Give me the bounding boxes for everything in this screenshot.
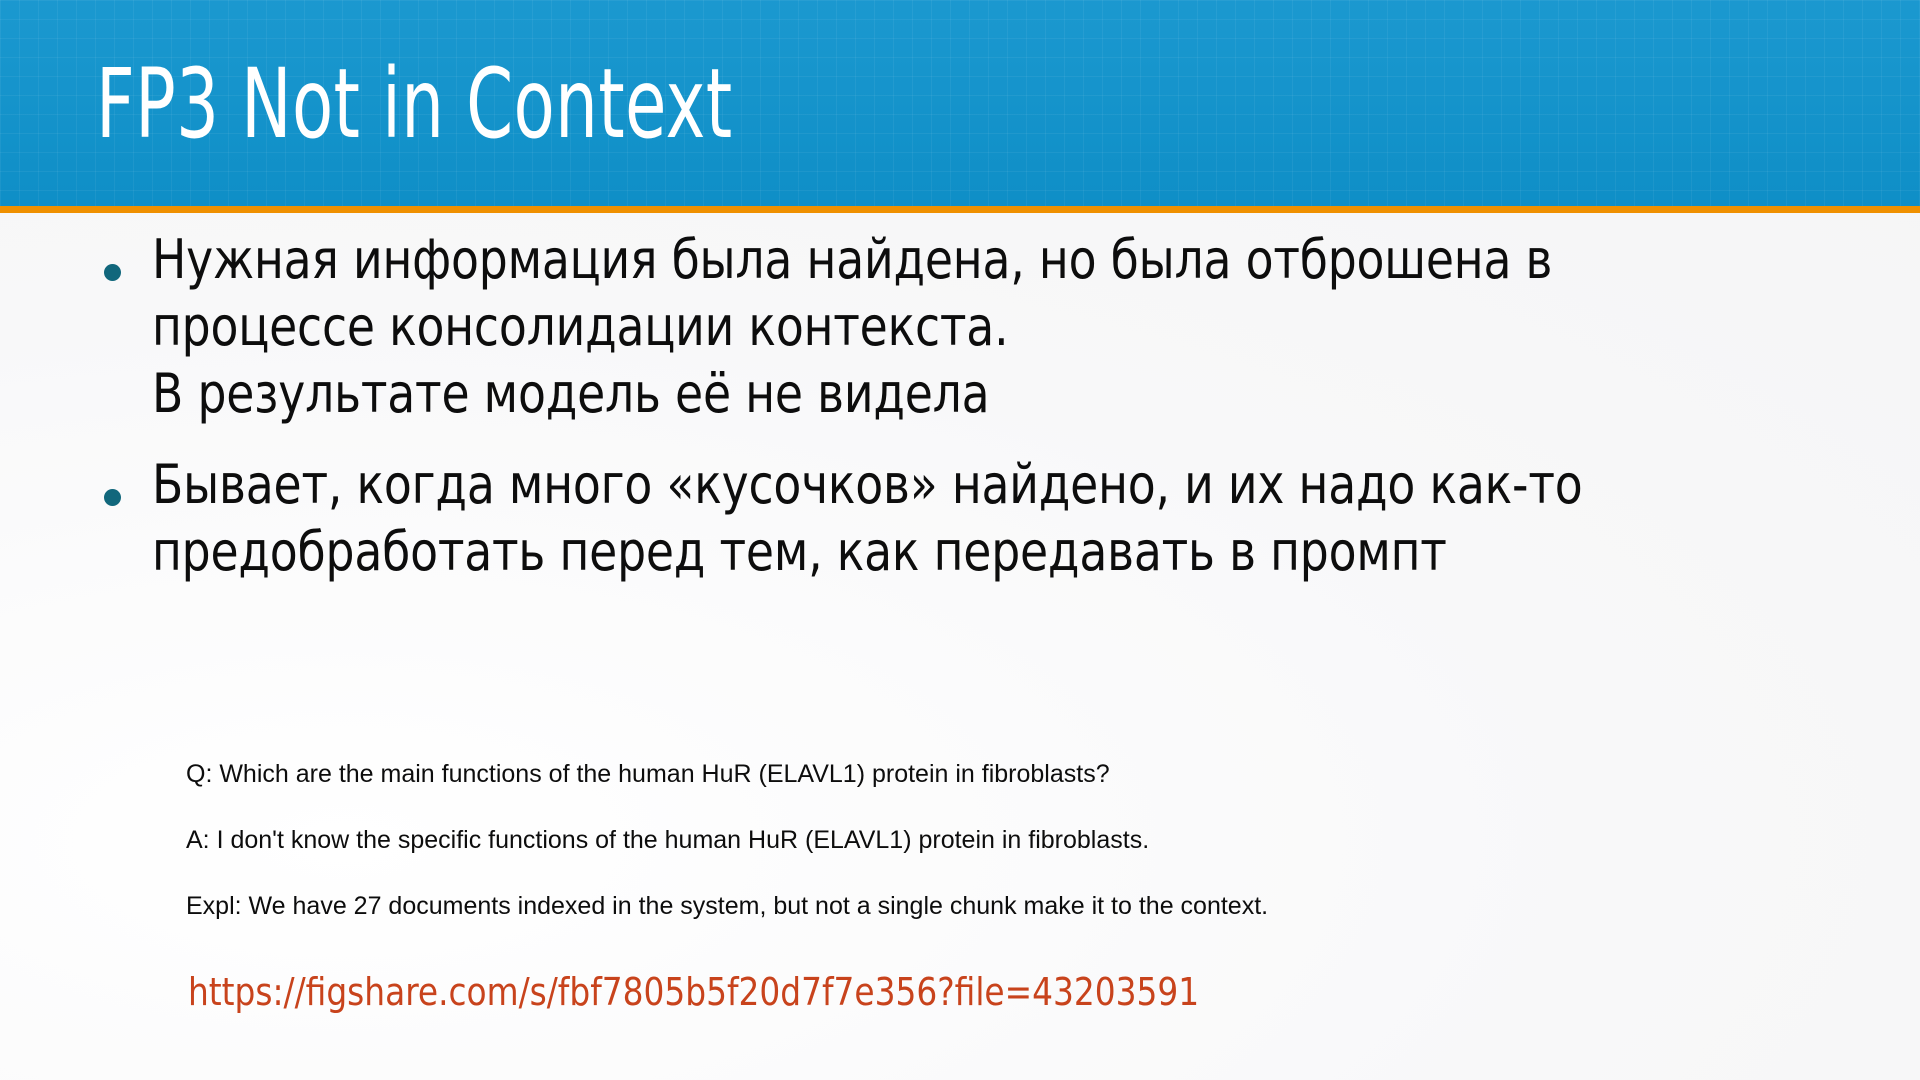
list-item: Бывает, когда много «кусочков» найдено, …: [96, 451, 1886, 585]
source-link[interactable]: https://figshare.com/s/fbf7805b5f20d7f7e…: [188, 969, 1199, 1015]
slide-body: Нужная информация была найдена, но была …: [0, 206, 1920, 1080]
slide-canvas: FP3 Not in Context Нужная информация был…: [0, 0, 1920, 1080]
bullet-dot-icon: [104, 264, 121, 281]
qa-example-block: Q: Which are the main functions of the h…: [186, 725, 1686, 956]
bullet-text: Нужная информация была найдена, но была …: [152, 226, 1782, 427]
bullet-list: Нужная информация была найдена, но была …: [96, 226, 1886, 609]
source-link-row: https://figshare.com/s/fbf7805b5f20d7f7e…: [188, 969, 1788, 1015]
bullet-text: Бывает, когда много «кусочков» найдено, …: [152, 451, 1782, 585]
page-title: FP3 Not in Context: [96, 52, 1422, 156]
list-item: Нужная информация была найдена, но была …: [96, 226, 1886, 427]
qa-answer: A: I don't know the specific functions o…: [186, 824, 1686, 857]
qa-explanation: Expl: We have 27 documents indexed in th…: [186, 890, 1686, 923]
qa-question: Q: Which are the main functions of the h…: [186, 758, 1686, 791]
bullet-dot-icon: [104, 489, 121, 506]
